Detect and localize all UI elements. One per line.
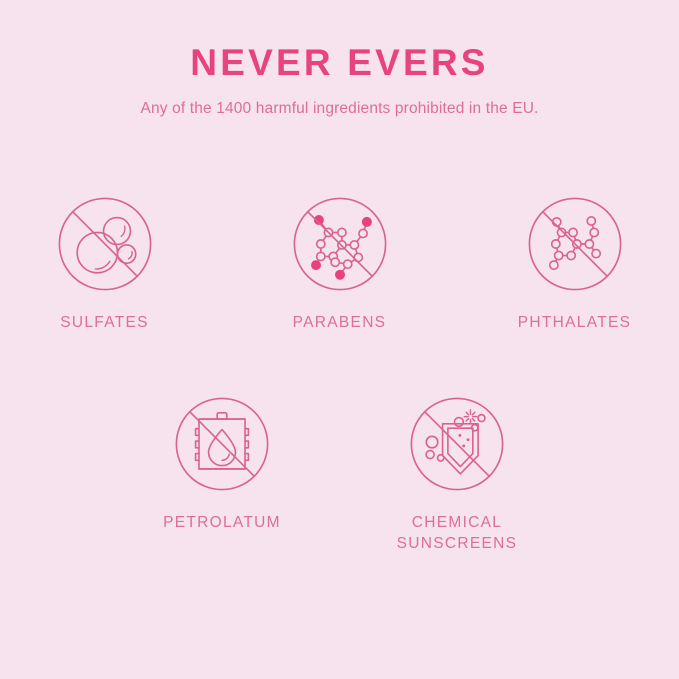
page-title: NEVER EVERS: [0, 44, 679, 83]
ingredient-grid: SULFATES: [0, 196, 679, 554]
ingredient-row-2: PETROLATUM: [0, 396, 679, 554]
no-sulfates-bubbles-icon: [57, 196, 153, 292]
ingredient-item-phthalates: PHTHALATES: [505, 196, 645, 333]
ingredient-label: PHTHALATES: [518, 313, 632, 333]
ingredient-label: SULFATES: [60, 313, 149, 333]
poster-header: NEVER EVERS Any of the 1400 harmful ingr…: [0, 44, 679, 119]
no-phthalates-molecule-icon: [527, 196, 623, 292]
no-chemical-sunscreens-shield-icon: [409, 396, 505, 492]
no-petrolatum-barrel-icon: [174, 396, 270, 492]
ingredient-row-1: SULFATES: [0, 196, 679, 333]
ingredient-label: CHEMICAL SUNSCREENS: [397, 513, 518, 554]
ingredient-label: PETROLATUM: [163, 513, 281, 533]
never-evers-poster: NEVER EVERS Any of the 1400 harmful ingr…: [0, 0, 679, 679]
ingredient-item-petrolatum: PETROLATUM: [152, 396, 292, 533]
ingredient-label: PARABENS: [293, 313, 387, 333]
page-subtitle: Any of the 1400 harmful ingredients proh…: [0, 83, 679, 119]
ingredient-item-parabens: PARABENS: [270, 196, 410, 333]
ingredient-item-sulfates: SULFATES: [35, 196, 175, 333]
ingredient-item-chemical-sunscreens: CHEMICAL SUNSCREENS: [387, 396, 527, 554]
no-parabens-molecule-icon: [292, 196, 388, 292]
